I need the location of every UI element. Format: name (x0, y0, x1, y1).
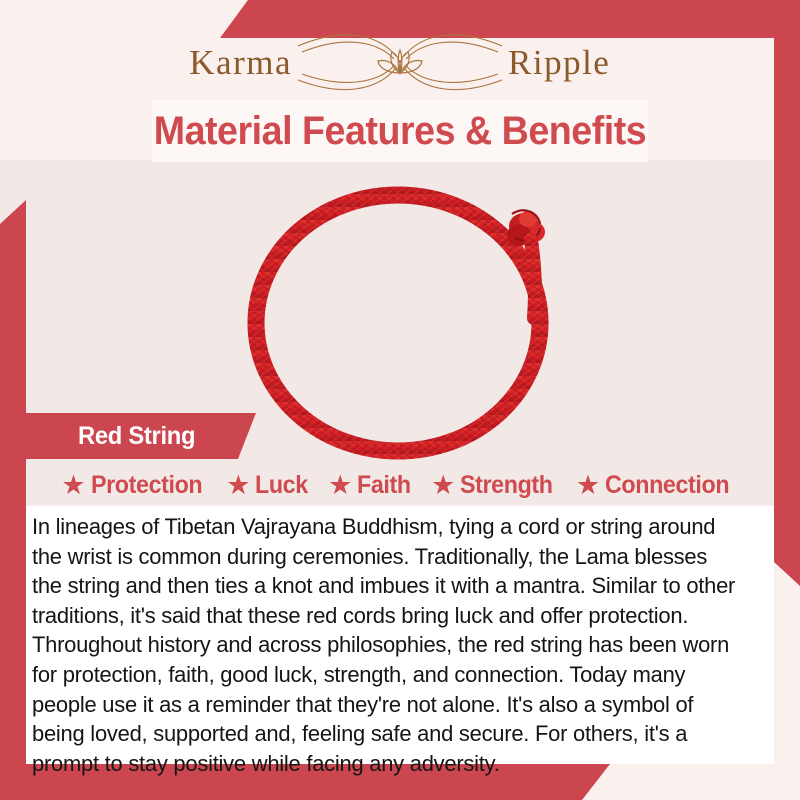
brand-name-right: Ripple (508, 43, 610, 82)
page-title: Material Features & Benefits (154, 109, 647, 154)
benefits-row: ★ Protection ★ Luck ★ Faith ★ Strength ★… (26, 466, 774, 504)
logo-svg: Karma Ripple (190, 26, 610, 98)
frame-left-accent (0, 200, 26, 766)
benefit-item-luck: ★ Luck (220, 471, 318, 500)
benefit-item-connection: ★ Connection (570, 471, 745, 500)
star-icon: ★ (576, 472, 600, 499)
benefit-item-faith: ★ Faith (322, 471, 421, 500)
benefit-label: Connection (605, 471, 729, 500)
benefit-label: Protection (91, 471, 202, 500)
frame-right-accent (774, 38, 800, 586)
description-panel: In lineages of Tibetan Vajrayana Buddhis… (26, 506, 774, 764)
title-band: Material Features & Benefits (152, 100, 648, 162)
description-body: In lineages of Tibetan Vajrayana Buddhis… (32, 512, 740, 778)
brand-logo: Karma Ripple (0, 22, 800, 102)
star-icon: ★ (431, 472, 455, 499)
benefit-label: Strength (460, 471, 553, 500)
product-label-text: Red String (78, 422, 195, 451)
star-icon: ★ (226, 472, 250, 499)
benefit-item-strength: ★ Strength (425, 471, 566, 500)
product-label-ribbon: Red String (26, 413, 256, 459)
benefit-label: Faith (357, 471, 411, 500)
star-icon: ★ (328, 472, 352, 499)
benefit-label: Luck (255, 471, 308, 500)
star-icon: ★ (61, 472, 85, 499)
brand-name-left: Karma (190, 43, 292, 82)
benefit-item-protection: ★ Protection (55, 471, 216, 500)
